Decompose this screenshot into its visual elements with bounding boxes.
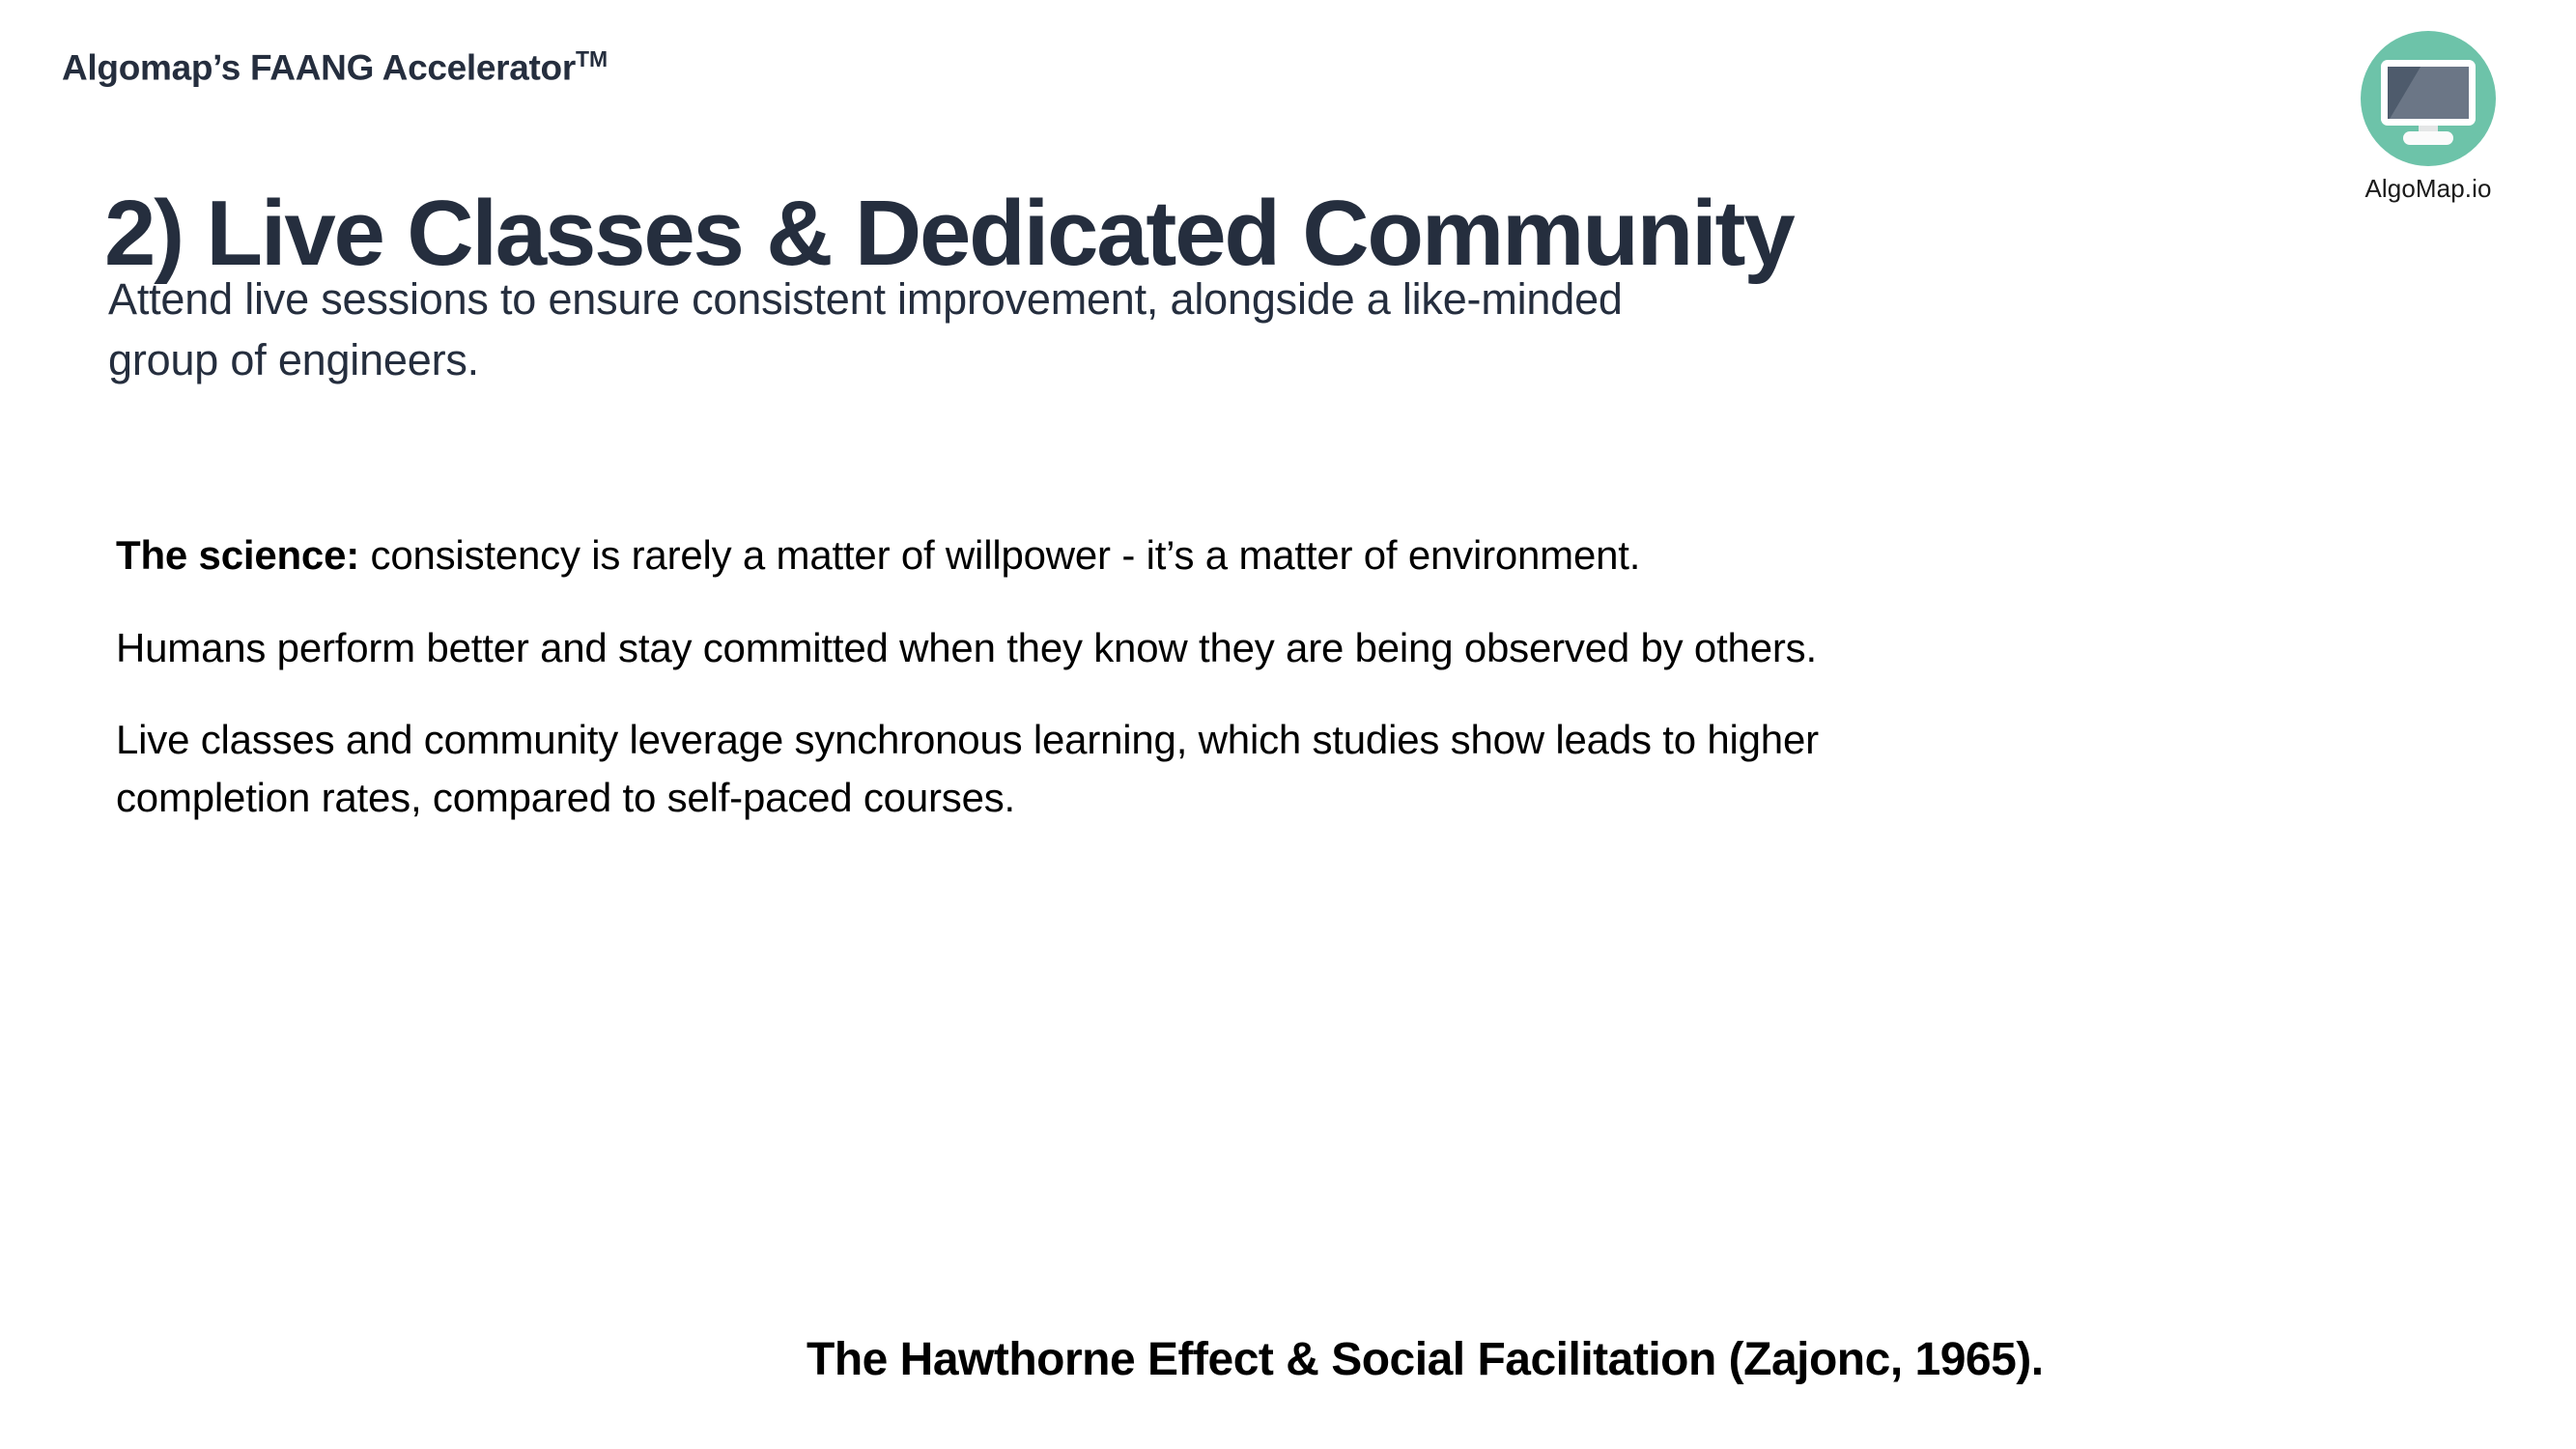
logo-caption: AlgoMap.io xyxy=(2327,174,2530,204)
slide-subtitle: Attend live sessions to ensure consisten… xyxy=(108,269,2137,390)
body-paragraph-science: The science: consistency is rarely a mat… xyxy=(116,526,2415,584)
body-paragraph-synchronous: Live classes and community leverage sync… xyxy=(116,711,2415,826)
monitor-icon xyxy=(2361,31,2496,166)
body-content: The science: consistency is rarely a mat… xyxy=(116,526,2415,862)
subtitle-line-1: Attend live sessions to ensure consisten… xyxy=(108,269,2137,329)
body-lead-rest: consistency is rarely a matter of willpo… xyxy=(359,532,1640,578)
body-paragraph-synchronous-line-2: completion rates, compared to self-paced… xyxy=(116,769,2415,827)
brand-eyebrow: Algomap’s FAANG AcceleratorTM xyxy=(62,46,608,88)
trademark-superscript: TM xyxy=(576,46,608,71)
slide-canvas: Algomap’s FAANG AcceleratorTM 2) Live Cl… xyxy=(0,0,2576,1449)
logo[interactable]: AlgoMap.io xyxy=(2327,31,2530,204)
footer-citation: The Hawthorne Effect & Social Facilitati… xyxy=(807,1333,2044,1386)
brand-eyebrow-text: Algomap’s FAANG Accelerator xyxy=(62,47,576,87)
body-lead-label: The science: xyxy=(116,532,359,578)
body-paragraph-synchronous-line-1: Live classes and community leverage sync… xyxy=(116,711,2415,769)
subtitle-line-2: group of engineers. xyxy=(108,329,2137,390)
body-paragraph-observed: Humans perform better and stay committed… xyxy=(116,619,2415,677)
